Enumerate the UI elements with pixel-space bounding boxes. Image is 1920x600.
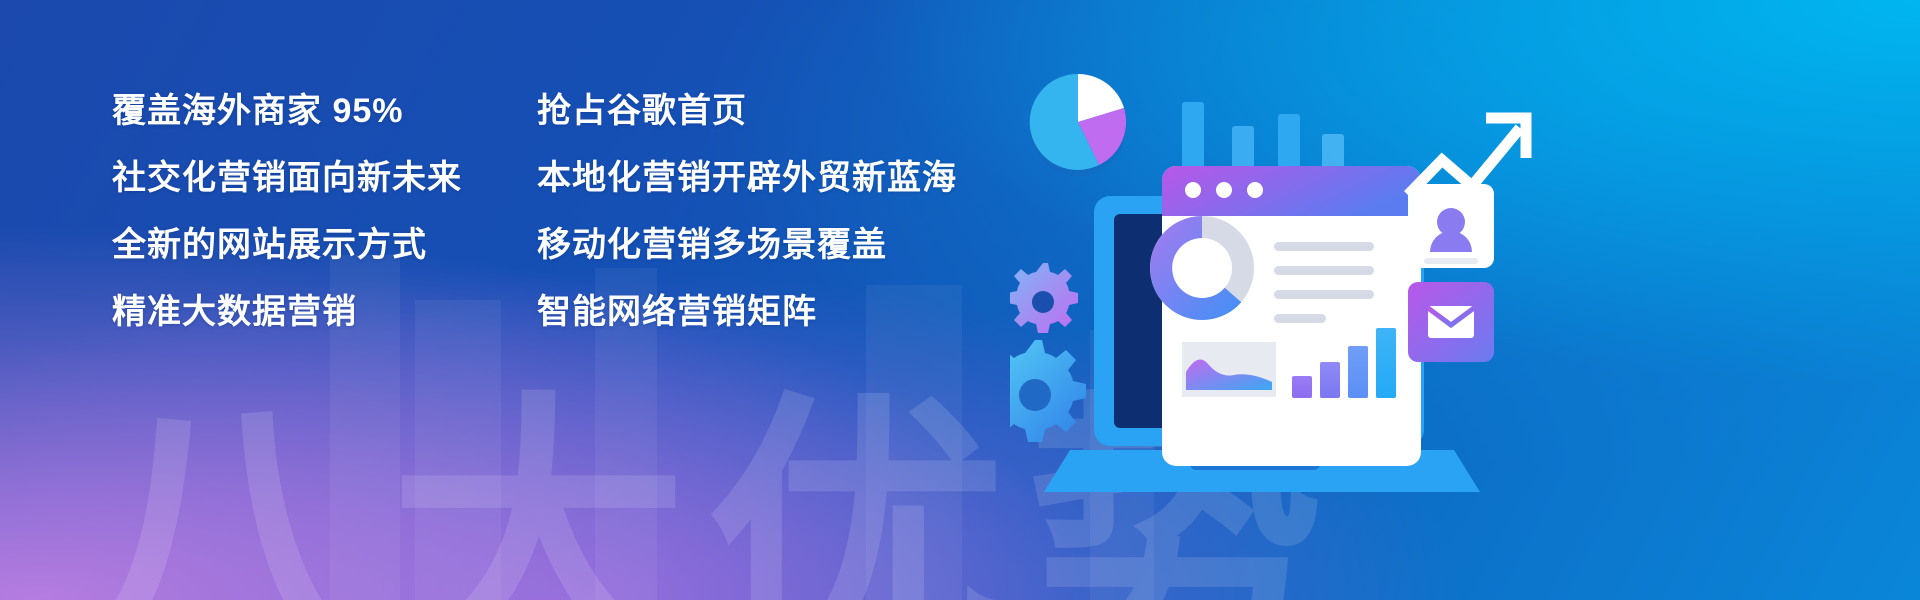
pie-chart-icon	[1030, 74, 1126, 176]
user-card-icon	[1408, 184, 1494, 268]
feature-list: 覆盖海外商家 95% 抢占谷歌首页 社交化营销面向新未来 本地化营销开辟外贸新蓝…	[112, 74, 957, 342]
gear-small-icon	[1010, 263, 1078, 333]
browser-window	[1161, 166, 1421, 466]
feature-item: 移动化营销多场景覆盖	[537, 217, 957, 266]
top-bars-icon	[1182, 102, 1344, 172]
promo-banner: 八大优势 覆盖海外商家 95% 抢占谷歌首页 社交化营销面向新未来 本地化营销开…	[0, 0, 1920, 600]
marketing-illustration	[1010, 0, 1920, 600]
feature-item: 社交化营销面向新未来	[112, 150, 537, 199]
decorative-bar-2	[415, 300, 501, 600]
gear-large-icon	[1010, 340, 1086, 442]
feature-item: 抢占谷歌首页	[537, 83, 957, 132]
window-dot	[1216, 182, 1232, 198]
feature-item: 精准大数据营销	[112, 284, 537, 333]
feature-item: 智能网络营销矩阵	[537, 284, 957, 333]
area-chart-icon	[1182, 342, 1276, 397]
feature-item: 覆盖海外商家 95%	[112, 83, 537, 132]
mail-card-icon	[1408, 282, 1494, 362]
window-dot	[1185, 182, 1201, 198]
feature-item: 本地化营销开辟外贸新蓝海	[537, 150, 957, 199]
window-dot	[1247, 182, 1263, 198]
feature-item: 全新的网站展示方式	[112, 217, 537, 266]
arrow-up-trend-icon	[1408, 118, 1526, 195]
